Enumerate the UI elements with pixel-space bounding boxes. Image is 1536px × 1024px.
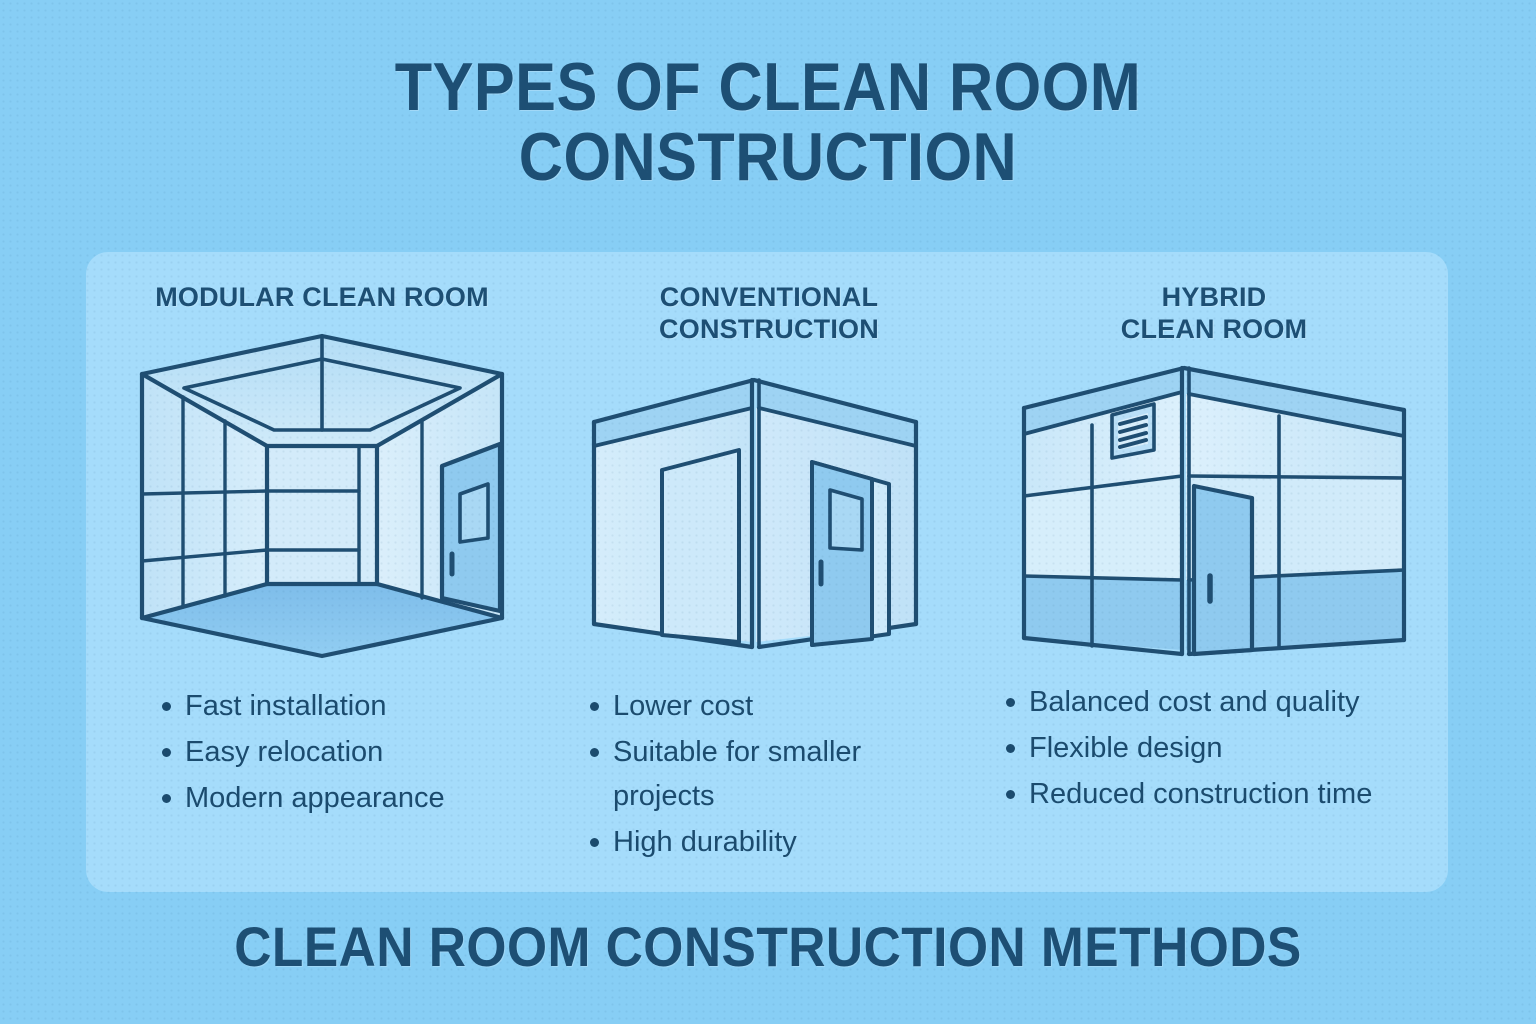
list-item: Fast installation	[158, 684, 558, 728]
bullet-list-conventional: Lower cost Suitable for smaller projects…	[586, 684, 916, 864]
list-item: Lower cost	[586, 684, 916, 728]
column-hybrid-clean-room: HYBRID CLEAN ROOM	[980, 252, 1448, 892]
bullet-list-hybrid: Balanced cost and quality Flexible desig…	[1002, 680, 1448, 816]
list-item: Modern appearance	[158, 776, 558, 820]
page-title-line-1: TYPES OF CLEAN ROOM	[395, 49, 1141, 125]
illustration-conventional-construction	[558, 362, 980, 672]
column-conventional-construction: CONVENTIONAL CONSTRUCTION	[558, 252, 980, 892]
hybrid-clean-room-drawing	[1014, 358, 1414, 668]
infographic-poster: TYPES OF CLEAN ROOM CONSTRUCTION MODULAR…	[0, 0, 1536, 1024]
list-item: High durability	[586, 820, 916, 864]
illustration-hybrid-clean-room	[980, 358, 1448, 668]
bullet-list-modular: Fast installation Easy relocation Modern…	[158, 684, 558, 820]
list-item: Reduced construction time	[1002, 772, 1448, 816]
page-title-line-2: CONSTRUCTION	[77, 122, 1459, 192]
list-item: Flexible design	[1002, 726, 1448, 770]
modular-clean-room-drawing	[122, 326, 522, 666]
column-heading-conventional-line-2: CONSTRUCTION	[659, 314, 879, 344]
column-heading-conventional-line-1: CONVENTIONAL	[660, 282, 878, 312]
column-heading-modular-line-1: MODULAR CLEAN ROOM	[155, 282, 489, 312]
column-heading-modular: MODULAR CLEAN ROOM	[86, 252, 558, 314]
conventional-construction-drawing	[584, 362, 954, 672]
page-title: TYPES OF CLEAN ROOM CONSTRUCTION	[77, 52, 1459, 192]
illustration-modular-clean-room	[86, 326, 558, 666]
column-heading-hybrid-line-1: HYBRID	[1162, 282, 1267, 312]
column-heading-hybrid-line-2: CLEAN ROOM	[1121, 314, 1308, 344]
column-heading-hybrid: HYBRID CLEAN ROOM	[980, 252, 1448, 346]
content-card: MODULAR CLEAN ROOM	[86, 252, 1448, 892]
list-item: Easy relocation	[158, 730, 558, 774]
columns-container: MODULAR CLEAN ROOM	[86, 252, 1448, 892]
footer-caption: CLEAN ROOM CONSTRUCTION METHODS	[61, 914, 1474, 979]
list-item: Balanced cost and quality	[1002, 680, 1448, 724]
list-item: Suitable for smaller projects	[586, 730, 916, 818]
column-heading-conventional: CONVENTIONAL CONSTRUCTION	[558, 252, 980, 346]
column-modular-clean-room: MODULAR CLEAN ROOM	[86, 252, 558, 892]
